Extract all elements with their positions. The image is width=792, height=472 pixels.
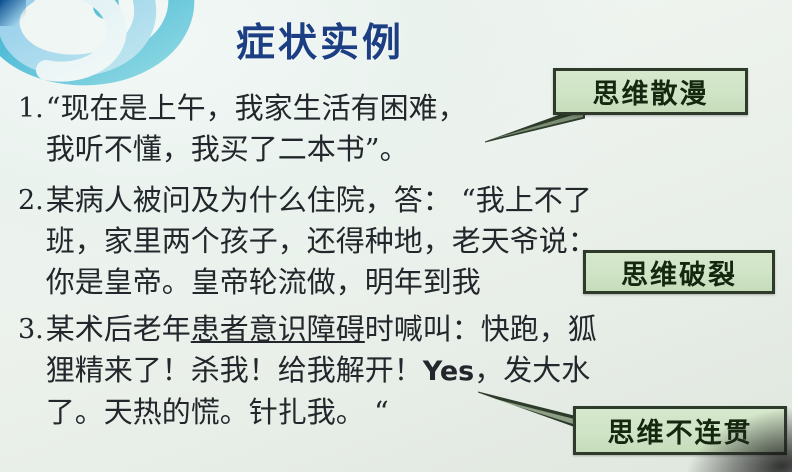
edge-shadow: [0, 0, 26, 26]
slide-canvas: 症状实例 1. “现在是上午，我家生活有困难， 我听不懂，我买了二本书”。 2.…: [0, 0, 792, 472]
text-segment: 时喊叫：快跑，狐: [365, 312, 597, 346]
callout-box-thought-broken[interactable]: 思维破裂: [583, 250, 775, 294]
list-item-number: 2.: [14, 180, 46, 221]
text-segment: 狸精来了！杀我！给我解开！: [46, 353, 423, 387]
latin-word: Yes: [423, 356, 474, 387]
text-line: 狸精来了！杀我！给我解开！Yes，发大水: [46, 350, 784, 392]
callout-label: 思维破裂: [621, 253, 737, 292]
underlined-term: 患者意识障碍: [191, 312, 365, 346]
callout-box-thought-incoherent[interactable]: 思维不连贯: [573, 406, 787, 455]
list-item-number: 1.: [14, 88, 46, 129]
callout-box-thought-loose[interactable]: 思维散漫: [553, 68, 748, 115]
list-item-number: 3.: [14, 309, 46, 350]
text-line: 我听不懂，我买了二本书”。: [46, 129, 784, 170]
text-segment: ，发大水: [474, 353, 590, 387]
callout-label: 思维散漫: [593, 72, 709, 111]
callout-label: 思维不连贯: [608, 411, 753, 450]
page-title: 症状实例: [236, 12, 404, 68]
text-line: 某术后老年患者意识障碍时喊叫：快跑，狐: [46, 309, 784, 350]
text-line: 某病人被问及为什么住院，答： “我上不了: [46, 180, 784, 221]
text-segment: 某术后老年: [46, 312, 191, 346]
